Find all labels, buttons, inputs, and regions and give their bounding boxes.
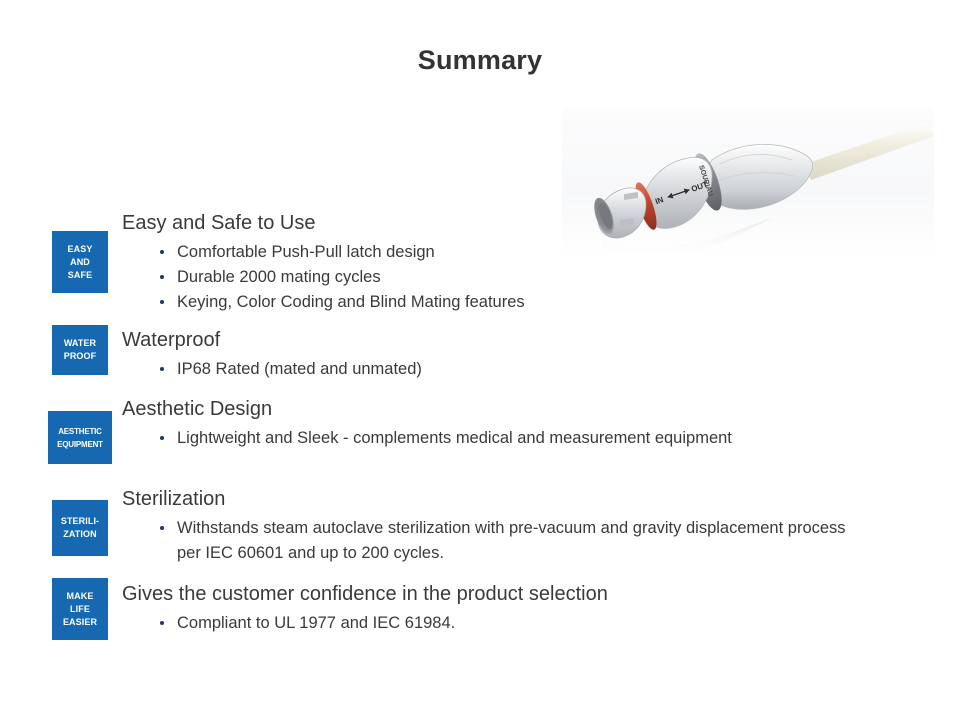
bullet-list-waterproof: IP68 Rated (mated and unmated) — [152, 357, 852, 382]
list-item: Withstands steam autoclave sterilization… — [152, 516, 867, 566]
badge-easy-and-safe: EASY AND SAFE — [52, 231, 108, 293]
badge-sterilization: STERILI- ZATION — [52, 500, 108, 556]
list-item: Keying, Color Coding and Blind Mating fe… — [152, 290, 852, 315]
section-heading-customer-confidence: Gives the customer confidence in the pro… — [122, 583, 608, 606]
list-item: IP68 Rated (mated and unmated) — [152, 357, 852, 382]
badge-line: PROOF — [64, 350, 97, 363]
section-heading-waterproof: Waterproof — [122, 329, 220, 352]
badge-line: AESTHETIC — [58, 425, 102, 438]
section-heading-aesthetic-design: Aesthetic Design — [122, 398, 272, 421]
badge-line: EQUIPMENT — [57, 438, 103, 451]
badge-line: EASIER — [63, 616, 97, 629]
list-item: Comfortable Push-Pull latch design — [152, 240, 852, 265]
list-item: Compliant to UL 1977 and IEC 61984. — [152, 611, 852, 636]
bullet-list-easy-and-safe: Comfortable Push-Pull latch design Durab… — [152, 240, 852, 315]
product-photo: OUT marking --> IN OUT SOURIAU — [562, 108, 934, 258]
list-item: Durable 2000 mating cycles — [152, 265, 852, 290]
badge-line: SAFE — [68, 269, 92, 282]
badge-aesthetic-equipment: AESTHETIC EQUIPMENT — [48, 411, 112, 464]
cable — [805, 122, 934, 180]
page-title: Summary — [0, 45, 960, 76]
badge-waterproof: WATER PROOF — [52, 325, 108, 375]
badge-make-life-easier: MAKE LIFE EASIER — [52, 578, 108, 640]
badge-line: STERILI- — [61, 515, 99, 528]
bullet-list-aesthetic-design: Lightweight and Sleek - complements medi… — [152, 426, 852, 451]
connector-illustration: OUT marking --> IN OUT SOURIAU — [562, 108, 934, 258]
badge-line: MAKE — [67, 590, 94, 603]
badge-line: LIFE — [70, 603, 90, 616]
section-heading-easy-and-safe: Easy and Safe to Use — [122, 212, 315, 235]
bullet-list-customer-confidence: Compliant to UL 1977 and IEC 61984. — [152, 611, 852, 636]
bullet-list-sterilization: Withstands steam autoclave sterilization… — [152, 516, 867, 566]
badge-line: EASY — [68, 243, 93, 256]
badge-line: ZATION — [63, 528, 96, 541]
section-heading-sterilization: Sterilization — [122, 488, 225, 511]
list-item: Lightweight and Sleek - complements medi… — [152, 426, 852, 451]
badge-line: WATER — [64, 337, 96, 350]
badge-line: AND — [70, 256, 90, 269]
